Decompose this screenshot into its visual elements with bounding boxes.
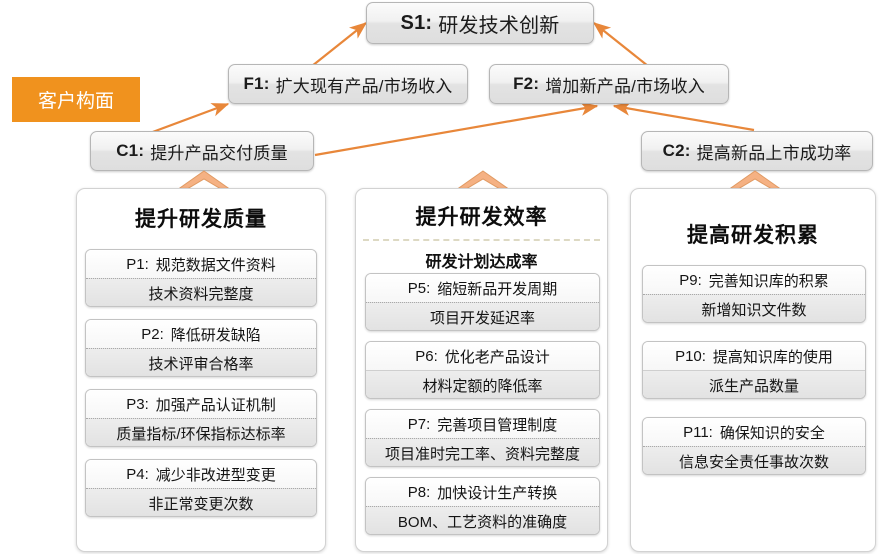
p2-objective: 降低研发缺陷 (171, 324, 261, 345)
panel-column-3: 提高研发积累 P9: 完善知识库的积累 新增知识文件数 P10: 提高知识库的使… (630, 188, 876, 552)
measure-box-p5[interactable]: P5: 缩短新品开发周期 项目开发延迟率 (365, 273, 600, 331)
customer-box-c2[interactable]: C2: 提高新品上市成功率 (641, 131, 873, 171)
p9-measure-row: 新增知识文件数 (643, 294, 865, 323)
p11-objective: 确保知识的安全 (720, 422, 825, 443)
p3-measure-row: 质量指标/环保指标达标率 (86, 418, 316, 447)
measure-box-p9[interactable]: P9: 完善知识库的积累 新增知识文件数 (642, 265, 866, 323)
arrow-c1-to-f1 (150, 104, 228, 133)
panel-2-title: 提升研发效率 (356, 201, 607, 231)
p7-objective: 完善项目管理制度 (437, 414, 557, 435)
p8-measure-row: BOM、工艺资料的准确度 (366, 506, 599, 535)
arrow-c1-to-f2 (315, 106, 597, 155)
p1-code: P1: (126, 256, 149, 273)
f1-text: 扩大现有产品/市场收入 (276, 72, 453, 97)
measure-box-p4[interactable]: P4: 减少非改进型变更 非正常变更次数 (85, 459, 317, 517)
arrow-f2-to-s1 (594, 23, 648, 66)
p4-code: P4: (126, 466, 149, 483)
p10-objective: 提高知识库的使用 (713, 346, 833, 367)
p3-objective: 加强产品认证机制 (156, 394, 276, 415)
p9-objective: 完善知识库的积累 (709, 270, 829, 291)
f2-text: 增加新产品/市场收入 (545, 72, 705, 97)
p4-objective-row: P4: 减少非改进型变更 (86, 460, 316, 488)
c1-code: C1: (116, 141, 144, 161)
arrow-c2-to-f2 (614, 106, 754, 130)
measure-box-p6[interactable]: P6: 优化老产品设计 材料定额的降低率 (365, 341, 600, 399)
p8-code: P8: (408, 484, 431, 501)
p6-code: P6: (415, 348, 438, 365)
p6-measure: 材料定额的降低率 (422, 375, 542, 396)
p11-objective-row: P11: 确保知识的安全 (643, 418, 865, 446)
panel-column-2: 提升研发效率 研发计划达成率 P5: 缩短新品开发周期 项目开发延迟率 P6: … (355, 188, 608, 552)
p5-objective: 缩短新品开发周期 (437, 278, 557, 299)
c1-text: 提升产品交付质量 (150, 139, 288, 164)
p9-objective-row: P9: 完善知识库的积累 (643, 266, 865, 294)
p3-code: P3: (126, 396, 149, 413)
p11-measure: 信息安全责任事故次数 (679, 451, 829, 472)
p6-objective-row: P6: 优化老产品设计 (366, 342, 599, 370)
p7-code: P7: (408, 416, 431, 433)
measure-box-p3[interactable]: P3: 加强产品认证机制 质量指标/环保指标达标率 (85, 389, 317, 447)
panel-1-title: 提升研发质量 (77, 203, 325, 233)
p10-measure-row: 派生产品数量 (643, 370, 865, 399)
p10-code: P10: (675, 348, 706, 365)
f1-code: F1: (243, 74, 269, 94)
strategy-box-s1[interactable]: S1: 研发技术创新 (366, 2, 594, 44)
f2-code: F2: (513, 74, 539, 94)
p9-measure: 新增知识文件数 (701, 299, 806, 320)
panel-column-1: 提升研发质量 P1: 规范数据文件资料 技术资料完整度 P2: 降低研发缺陷 技… (76, 188, 326, 552)
p11-code: P11: (683, 424, 713, 441)
panel-2-divider (363, 239, 600, 241)
arrow-f1-to-s1 (312, 23, 366, 66)
p4-measure: 非正常变更次数 (148, 493, 253, 514)
c2-text: 提高新品上市成功率 (697, 139, 852, 164)
p2-measure-row: 技术评审合格率 (86, 348, 316, 377)
p1-measure: 技术资料完整度 (148, 283, 253, 304)
p8-objective-row: P8: 加快设计生产转换 (366, 478, 599, 506)
p1-objective: 规范数据文件资料 (156, 254, 276, 275)
perspective-label-customer: 客户构面 (12, 77, 140, 122)
p11-measure-row: 信息安全责任事故次数 (643, 446, 865, 475)
panel-2-subtitle: 研发计划达成率 (356, 248, 607, 272)
p7-measure-row: 项目准时完工率、资料完整度 (366, 438, 599, 467)
p5-measure-row: 项目开发延迟率 (366, 302, 599, 331)
p10-objective-row: P10: 提高知识库的使用 (643, 342, 865, 370)
p3-objective-row: P3: 加强产品认证机制 (86, 390, 316, 418)
p9-code: P9: (679, 272, 702, 289)
strategy-code: S1: (401, 12, 433, 35)
p5-measure: 项目开发延迟率 (430, 307, 535, 328)
panel-3-title: 提高研发积累 (631, 219, 875, 249)
p8-objective: 加快设计生产转换 (437, 482, 557, 503)
p2-measure: 技术评审合格率 (148, 353, 253, 374)
measure-box-p8[interactable]: P8: 加快设计生产转换 BOM、工艺资料的准确度 (365, 477, 600, 535)
c2-code: C2: (663, 141, 691, 161)
p6-objective: 优化老产品设计 (445, 346, 550, 367)
measure-box-p10[interactable]: P10: 提高知识库的使用 派生产品数量 (642, 341, 866, 399)
p10-measure: 派生产品数量 (709, 375, 799, 396)
p4-objective: 减少非改进型变更 (156, 464, 276, 485)
p6-measure-row: 材料定额的降低率 (366, 370, 599, 399)
customer-box-c1[interactable]: C1: 提升产品交付质量 (90, 131, 314, 171)
p7-measure: 项目准时完工率、资料完整度 (385, 443, 580, 464)
p8-measure: BOM、工艺资料的准确度 (398, 511, 567, 532)
p2-code: P2: (141, 326, 164, 343)
measure-box-p7[interactable]: P7: 完善项目管理制度 项目准时完工率、资料完整度 (365, 409, 600, 467)
p5-code: P5: (408, 280, 431, 297)
p2-objective-row: P2: 降低研发缺陷 (86, 320, 316, 348)
measure-box-p1[interactable]: P1: 规范数据文件资料 技术资料完整度 (85, 249, 317, 307)
p7-objective-row: P7: 完善项目管理制度 (366, 410, 599, 438)
measure-box-p11[interactable]: P11: 确保知识的安全 信息安全责任事故次数 (642, 417, 866, 475)
financial-box-f1[interactable]: F1: 扩大现有产品/市场收入 (228, 64, 468, 104)
strategy-map-canvas: S1: 研发技术创新 F1: 扩大现有产品/市场收入 F2: 增加新产品/市场收… (0, 0, 880, 554)
perspective-label-text: 客户构面 (38, 86, 114, 113)
p1-measure-row: 技术资料完整度 (86, 278, 316, 307)
p1-objective-row: P1: 规范数据文件资料 (86, 250, 316, 278)
strategy-text: 研发技术创新 (438, 9, 559, 38)
p5-objective-row: P5: 缩短新品开发周期 (366, 274, 599, 302)
measure-box-p2[interactable]: P2: 降低研发缺陷 技术评审合格率 (85, 319, 317, 377)
p3-measure: 质量指标/环保指标达标率 (116, 423, 285, 444)
p4-measure-row: 非正常变更次数 (86, 488, 316, 517)
financial-box-f2[interactable]: F2: 增加新产品/市场收入 (489, 64, 729, 104)
